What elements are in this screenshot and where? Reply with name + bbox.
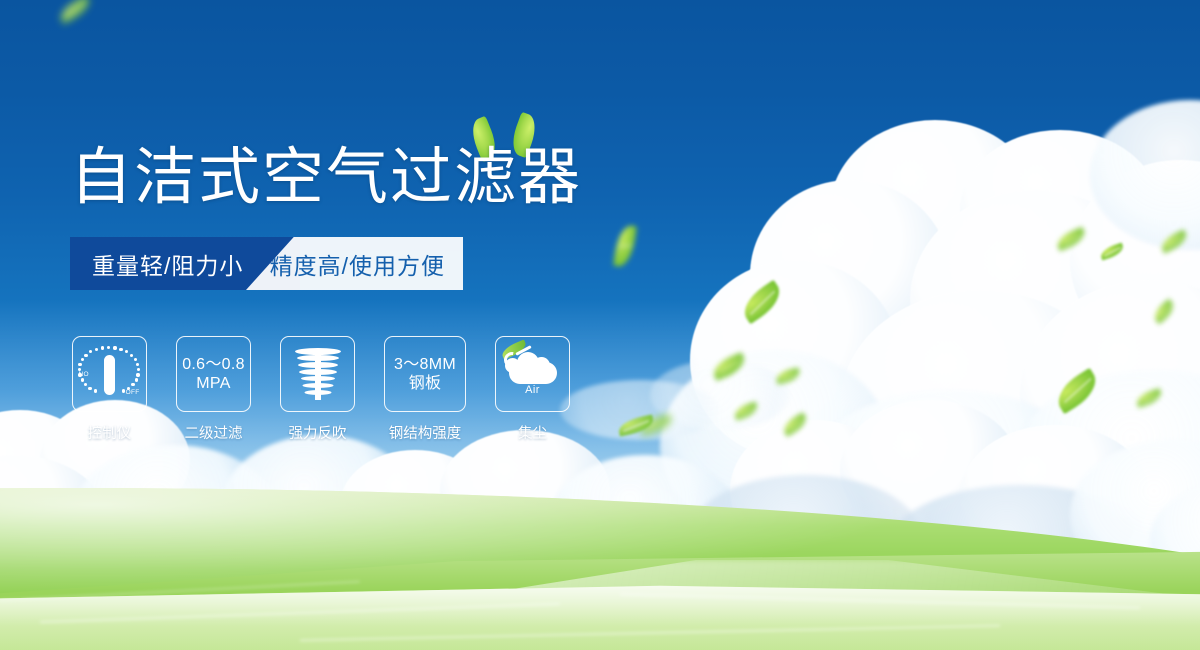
air-label: Air bbox=[503, 384, 563, 396]
page-title: 自洁式空气过滤器 bbox=[70, 142, 582, 214]
feature-box-control: NO OFF bbox=[72, 336, 147, 412]
subtitle-bar: 重量轻/阻力小 精度高/使用方便 bbox=[70, 237, 463, 290]
feature-label-pressure: 二级过滤 bbox=[185, 422, 243, 443]
feature-label-dust: 集尘 bbox=[518, 422, 547, 443]
hero-banner: 自洁式空气过滤器 重量轻/阻力小 精度高/使用方便 NO OFF bbox=[0, 0, 1200, 650]
air-cloud-icon: Air bbox=[503, 346, 563, 402]
feature-item-control[interactable]: NO OFF bbox=[72, 336, 147, 443]
dial-pointer bbox=[104, 355, 115, 395]
pressure-text-icon: 0.6～0.8 MPA bbox=[182, 355, 245, 393]
subtitle-right-label: 精度高/使用方便 bbox=[270, 247, 445, 281]
feature-label-backblow: 强力反吹 bbox=[289, 422, 347, 443]
subtitle-left-label: 重量轻/阻力小 bbox=[92, 247, 243, 281]
steel-plate-text-icon: 3～8MM 钢板 bbox=[394, 355, 456, 393]
feature-label-steel: 钢结构强度 bbox=[389, 422, 462, 443]
feature-item-steel[interactable]: 3～8MM 钢板 钢结构强度 bbox=[384, 336, 466, 443]
feature-list: NO OFF bbox=[72, 336, 570, 443]
feature-box-dust: Air bbox=[495, 336, 570, 412]
control-dial-icon: NO OFF bbox=[79, 343, 141, 405]
dial-off-label: OFF bbox=[126, 389, 140, 396]
feature-label-control: 控制仪 bbox=[88, 422, 132, 443]
feature-item-pressure[interactable]: 0.6～0.8 MPA 二级过滤 bbox=[176, 336, 251, 443]
feature-item-dust[interactable]: Air 集尘 bbox=[495, 336, 570, 443]
feature-item-backblow[interactable]: 强力反吹 bbox=[280, 336, 355, 443]
feature-box-steel: 3～8MM 钢板 bbox=[384, 336, 466, 412]
feature-box-backblow bbox=[280, 336, 355, 412]
feature-box-pressure: 0.6～0.8 MPA bbox=[176, 336, 251, 412]
filter-stack-icon bbox=[293, 346, 343, 402]
